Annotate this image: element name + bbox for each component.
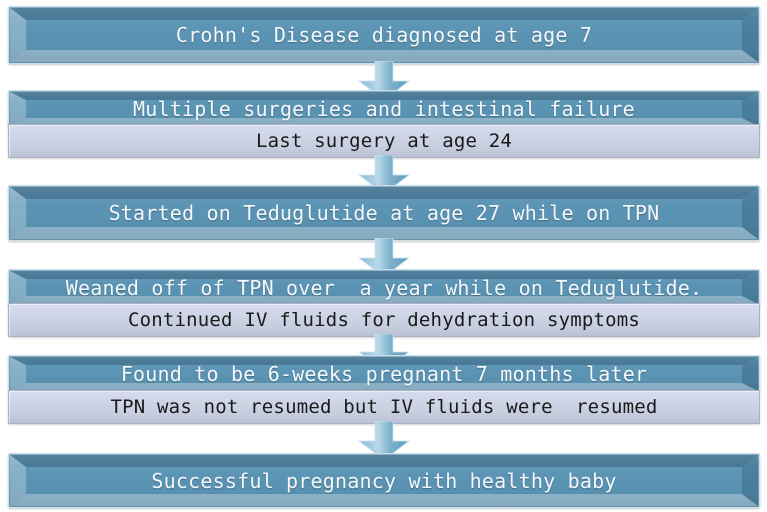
step-3-primary-label: Started on Teduglutide at age 27 while o… bbox=[109, 203, 660, 223]
step-4-primary-label: Weaned off of TPN over a year while on T… bbox=[66, 278, 703, 298]
step-4-secondary-label: Continued IV fluids for dehydration symp… bbox=[128, 311, 640, 330]
step-2-primary-box[interactable]: Multiple surgeries and intestinal failur… bbox=[8, 90, 760, 128]
step-1-primary-label: Crohn's Disease diagnosed at age 7 bbox=[176, 25, 592, 45]
step-5-primary-box[interactable]: Found to be 6-weeks pregnant 7 months la… bbox=[8, 355, 760, 393]
step-2-secondary-label: Last surgery at age 24 bbox=[256, 132, 512, 151]
step-5-secondary-box[interactable]: TPN was not resumed but IV fluids were r… bbox=[8, 390, 760, 424]
step-5-secondary-label: TPN was not resumed but IV fluids were r… bbox=[110, 398, 657, 417]
step-2-primary-label: Multiple surgeries and intestinal failur… bbox=[133, 99, 635, 119]
step-3-primary-box[interactable]: Started on Teduglutide at age 27 while o… bbox=[8, 185, 760, 241]
step-6-primary-label: Successful pregnancy with healthy baby bbox=[151, 471, 616, 491]
step-4-secondary-box[interactable]: Continued IV fluids for dehydration symp… bbox=[8, 303, 760, 337]
step-6-primary-box[interactable]: Successful pregnancy with healthy baby bbox=[8, 453, 760, 508]
flowchart-diagram: Crohn's Disease diagnosed at age 7 Multi… bbox=[0, 0, 767, 512]
step-4-primary-box[interactable]: Weaned off of TPN over a year while on T… bbox=[8, 269, 760, 306]
step-2-secondary-box[interactable]: Last surgery at age 24 bbox=[8, 124, 760, 158]
step-5-primary-label: Found to be 6-weeks pregnant 7 months la… bbox=[121, 364, 647, 384]
step-1-primary-box[interactable]: Crohn's Disease diagnosed at age 7 bbox=[8, 6, 760, 64]
